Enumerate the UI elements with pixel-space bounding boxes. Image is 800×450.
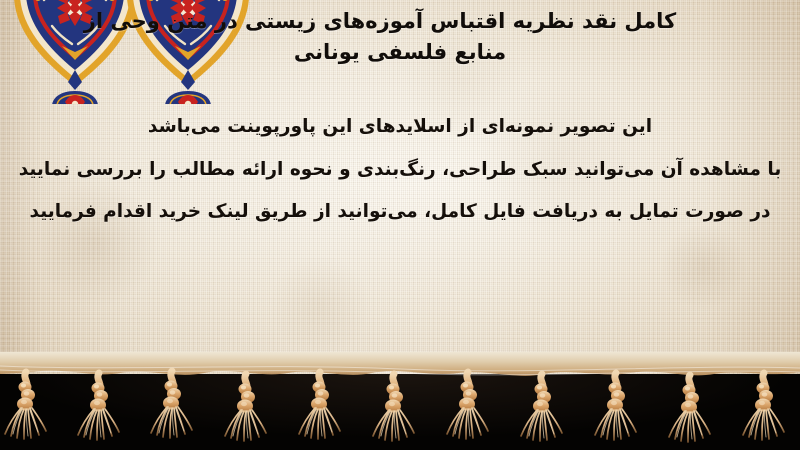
carpet-medallion-pendant-right [123,0,253,104]
slide-canvas: کامل نقد نظریه اقتباس آموزه‌های زیستی در… [0,0,800,450]
black-backdrop [0,374,800,450]
carpet-medallion-pendant-left [10,0,140,104]
